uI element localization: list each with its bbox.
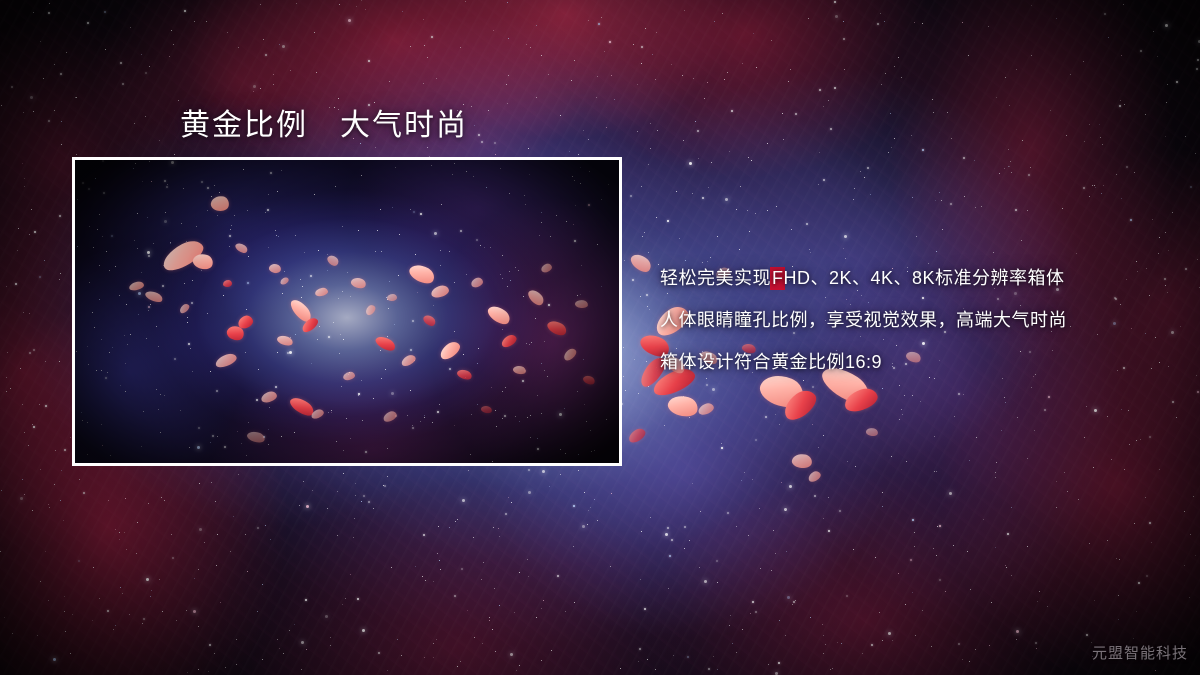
star — [33, 12, 34, 13]
star — [433, 581, 434, 582]
star — [590, 507, 591, 508]
star — [294, 624, 295, 625]
star — [983, 519, 984, 520]
star — [342, 604, 343, 605]
star — [1094, 409, 1097, 412]
star — [1031, 387, 1032, 388]
star — [646, 361, 647, 362]
star — [262, 659, 263, 660]
star — [632, 279, 634, 281]
star — [0, 551, 1, 552]
star — [650, 148, 651, 149]
star — [823, 179, 825, 181]
star — [665, 533, 668, 536]
star — [899, 419, 900, 420]
star — [119, 539, 120, 540]
star — [969, 460, 970, 461]
star — [623, 376, 624, 377]
star — [214, 653, 215, 654]
star — [378, 652, 380, 654]
star — [48, 12, 50, 14]
star — [204, 542, 205, 543]
star — [969, 661, 970, 662]
star — [578, 154, 579, 155]
star — [641, 63, 642, 64]
star — [967, 551, 968, 552]
star — [61, 470, 62, 471]
star — [1006, 567, 1007, 568]
star — [59, 279, 60, 280]
body-line-1: 轻松完美实现FHD、2K、4K、8K标准分辨率箱体 — [660, 257, 1180, 299]
star — [505, 513, 507, 515]
star — [812, 424, 813, 425]
star — [1070, 74, 1071, 75]
star — [478, 134, 480, 136]
star — [867, 167, 869, 169]
star — [83, 492, 85, 494]
star — [1027, 458, 1028, 459]
star — [54, 64, 55, 65]
star — [785, 635, 786, 636]
star — [20, 497, 23, 500]
star — [727, 512, 729, 514]
star — [199, 483, 200, 484]
star — [1190, 534, 1191, 535]
star — [698, 158, 699, 159]
star — [667, 220, 669, 222]
star — [107, 610, 109, 612]
star — [551, 650, 552, 651]
star — [122, 83, 124, 85]
star — [137, 522, 138, 523]
star — [1193, 496, 1194, 497]
star — [784, 508, 787, 511]
star — [637, 84, 638, 85]
star — [536, 25, 537, 26]
star — [494, 588, 495, 589]
star — [225, 667, 226, 668]
star — [24, 494, 25, 495]
star — [306, 649, 307, 650]
star — [717, 669, 718, 670]
star — [1056, 18, 1057, 19]
star — [499, 605, 500, 606]
star — [864, 177, 865, 178]
star — [806, 223, 808, 225]
star — [676, 191, 677, 192]
star — [1197, 59, 1199, 61]
star — [1166, 102, 1167, 103]
star — [1124, 469, 1125, 470]
star — [931, 646, 932, 647]
star — [1159, 469, 1160, 470]
star — [729, 151, 730, 152]
star — [60, 73, 62, 75]
star — [991, 602, 992, 603]
star — [914, 532, 915, 533]
star — [1107, 540, 1108, 541]
star — [884, 21, 885, 22]
star — [968, 55, 969, 56]
star — [962, 22, 963, 23]
star — [1009, 105, 1010, 106]
star — [891, 147, 892, 148]
star — [673, 655, 674, 656]
star — [1035, 642, 1037, 644]
star — [810, 252, 811, 253]
star — [1016, 69, 1017, 70]
star — [1011, 575, 1012, 576]
star — [700, 511, 701, 512]
star — [493, 527, 494, 528]
star — [721, 447, 723, 449]
star — [871, 644, 873, 646]
star — [704, 580, 707, 583]
star — [708, 187, 709, 188]
star — [906, 461, 907, 462]
star — [29, 313, 30, 314]
star — [881, 84, 882, 85]
star — [186, 610, 187, 611]
star — [823, 653, 824, 654]
star — [4, 617, 5, 618]
star — [33, 426, 35, 428]
star — [1116, 174, 1117, 175]
star — [391, 567, 392, 568]
star — [894, 138, 895, 139]
star — [543, 600, 544, 601]
star — [1197, 391, 1199, 393]
star — [511, 502, 512, 503]
star — [911, 135, 912, 136]
page-title: 黄金比例 大气时尚 — [180, 100, 468, 144]
star — [1196, 375, 1197, 376]
star — [736, 652, 737, 653]
star — [1067, 491, 1068, 492]
star — [499, 536, 500, 537]
star — [460, 47, 461, 48]
star — [783, 139, 784, 140]
flower-petal — [807, 469, 823, 483]
star — [793, 601, 795, 603]
star — [174, 154, 175, 155]
star — [549, 486, 550, 487]
star — [457, 519, 458, 520]
star — [1037, 601, 1038, 602]
star — [988, 26, 989, 27]
star — [614, 99, 615, 100]
watermark: 元盟智能科技 — [1092, 642, 1188, 663]
star — [273, 74, 274, 75]
star — [40, 41, 41, 42]
star — [489, 620, 490, 621]
star — [582, 525, 585, 528]
star — [24, 186, 25, 187]
star — [1086, 634, 1088, 636]
star — [115, 529, 116, 530]
star — [1030, 167, 1031, 168]
star — [834, 87, 836, 89]
star — [356, 6, 357, 7]
star — [702, 197, 704, 199]
flower-petal — [865, 427, 878, 437]
star — [707, 82, 708, 83]
star — [1146, 575, 1148, 577]
star — [375, 147, 376, 148]
star — [692, 483, 693, 484]
star — [901, 409, 902, 410]
star — [993, 252, 994, 253]
star — [736, 209, 737, 210]
star — [461, 568, 463, 570]
star — [1089, 543, 1090, 544]
star — [1076, 253, 1077, 254]
star — [43, 78, 44, 79]
star — [508, 38, 509, 39]
star — [79, 479, 80, 480]
star — [904, 395, 905, 396]
star — [899, 385, 900, 386]
star — [584, 492, 585, 493]
star — [541, 55, 542, 56]
star — [706, 384, 708, 386]
star — [495, 154, 496, 155]
star — [574, 602, 575, 603]
star — [789, 485, 792, 488]
star — [569, 151, 570, 152]
star — [108, 500, 109, 501]
star — [749, 231, 750, 232]
star — [162, 611, 163, 612]
star — [495, 651, 496, 652]
star — [120, 62, 122, 64]
star — [12, 633, 13, 634]
star — [828, 497, 829, 498]
star — [902, 414, 903, 415]
star — [305, 599, 307, 601]
star — [594, 499, 595, 500]
star — [253, 91, 254, 92]
star — [782, 113, 783, 114]
star — [76, 154, 77, 155]
star — [361, 501, 362, 502]
star — [130, 27, 131, 28]
star — [75, 97, 76, 98]
star — [171, 534, 172, 535]
star — [217, 534, 218, 535]
star — [1089, 196, 1090, 197]
star — [354, 518, 355, 519]
star — [1140, 50, 1142, 52]
star — [597, 520, 598, 521]
star — [892, 640, 893, 641]
star — [722, 13, 723, 14]
star — [922, 610, 923, 611]
star — [30, 96, 33, 99]
star — [1121, 55, 1122, 56]
star — [759, 508, 760, 509]
star — [301, 669, 302, 670]
star — [781, 482, 782, 483]
star — [637, 131, 638, 132]
star — [422, 576, 423, 577]
star — [870, 194, 871, 195]
star — [415, 566, 416, 567]
star — [548, 74, 549, 75]
star — [557, 575, 559, 577]
star — [1089, 124, 1090, 125]
star — [753, 33, 754, 34]
star — [641, 531, 642, 532]
star — [145, 72, 147, 74]
star — [822, 624, 823, 625]
star — [949, 492, 952, 495]
star — [481, 579, 482, 580]
star — [712, 388, 715, 391]
star — [752, 479, 753, 480]
star — [527, 559, 528, 560]
star — [1152, 219, 1153, 220]
star — [1103, 185, 1104, 186]
body-line-1-post: HD、2K、4K、8K标准分辨率箱体 — [784, 268, 1065, 288]
star — [1100, 137, 1101, 138]
star — [338, 98, 339, 99]
star — [54, 484, 55, 485]
star — [963, 394, 964, 395]
star — [644, 232, 645, 233]
star — [355, 495, 356, 496]
star — [598, 23, 600, 25]
star — [1009, 166, 1010, 167]
star — [1172, 212, 1173, 213]
star — [1064, 472, 1065, 473]
star — [401, 655, 402, 656]
star — [623, 347, 624, 348]
star — [316, 72, 317, 73]
star — [468, 470, 469, 471]
star — [642, 236, 643, 237]
star — [1126, 166, 1128, 168]
star — [260, 4, 261, 5]
star — [424, 657, 425, 658]
star — [736, 526, 737, 527]
flower-petal — [628, 251, 654, 276]
star — [775, 414, 776, 415]
star — [941, 200, 942, 201]
star — [981, 206, 982, 207]
star — [134, 123, 135, 124]
star — [916, 236, 917, 237]
star — [560, 474, 561, 475]
star — [471, 106, 472, 107]
star — [247, 571, 248, 572]
star — [368, 501, 370, 503]
star — [1151, 542, 1152, 543]
star — [465, 1, 466, 2]
star — [17, 250, 18, 251]
star — [699, 567, 700, 568]
star — [283, 653, 284, 654]
star — [474, 637, 475, 638]
star — [606, 127, 607, 128]
star — [958, 393, 960, 395]
star — [368, 60, 370, 62]
star — [199, 528, 202, 531]
star — [198, 569, 199, 570]
star — [609, 41, 611, 43]
star — [588, 510, 589, 511]
star — [725, 198, 728, 201]
star — [768, 664, 769, 665]
star — [467, 610, 468, 611]
star — [853, 549, 854, 550]
star — [337, 491, 338, 492]
star — [23, 312, 24, 313]
star — [731, 110, 733, 112]
star — [1, 490, 2, 491]
star — [507, 103, 508, 104]
star — [1123, 4, 1124, 5]
star — [936, 471, 937, 472]
star — [953, 545, 954, 546]
star — [560, 115, 561, 116]
star — [1129, 444, 1130, 445]
star — [656, 217, 657, 218]
star — [7, 352, 8, 353]
star — [1039, 591, 1040, 592]
star — [862, 653, 863, 654]
star — [384, 485, 386, 487]
star — [727, 72, 728, 73]
star — [970, 589, 971, 590]
star — [664, 425, 665, 426]
star — [1136, 440, 1137, 441]
star — [54, 110, 55, 111]
star — [914, 22, 915, 23]
star — [1121, 198, 1122, 199]
star — [721, 443, 722, 444]
star — [32, 424, 33, 425]
star — [936, 555, 937, 556]
star — [516, 670, 517, 671]
star — [791, 229, 792, 230]
star — [299, 505, 300, 506]
star — [325, 615, 328, 618]
star — [604, 51, 605, 52]
star — [655, 79, 656, 80]
star — [588, 20, 589, 21]
star — [462, 499, 465, 502]
star — [187, 672, 188, 673]
star — [145, 116, 146, 117]
star — [28, 445, 29, 446]
star — [1028, 174, 1030, 176]
star — [29, 352, 31, 354]
body-line-3-text: 箱体设计符合黄金比例16:9 — [660, 352, 882, 372]
star — [126, 549, 127, 550]
star — [742, 63, 743, 64]
star — [649, 309, 650, 310]
star — [668, 588, 669, 589]
star — [433, 657, 434, 658]
star — [233, 516, 234, 517]
star — [596, 97, 597, 98]
star — [493, 30, 494, 31]
star — [958, 643, 960, 645]
star — [692, 193, 693, 194]
star — [951, 138, 952, 139]
star — [882, 492, 883, 493]
